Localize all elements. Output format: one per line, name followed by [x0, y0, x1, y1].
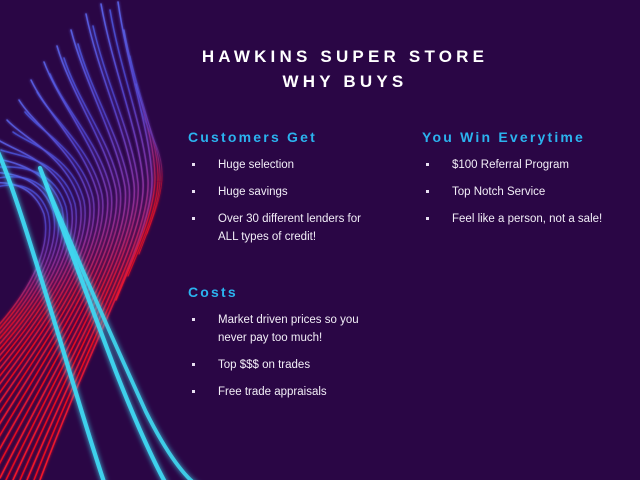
bullet-text: Top Notch Service	[452, 183, 627, 201]
bullet-dot-icon	[192, 217, 195, 220]
list-item: Huge selection	[188, 156, 388, 174]
list-item: Top Notch Service	[422, 183, 627, 201]
bullet-list: Huge selection Huge savings Over 30 diff…	[188, 156, 388, 246]
bullet-dot-icon	[426, 163, 429, 166]
list-item: Market driven prices so you never pay to…	[188, 311, 388, 347]
bullet-dot-icon	[192, 390, 195, 393]
section-heading: You Win Everytime	[422, 128, 627, 146]
bullet-text: Feel like a person, not a sale!	[452, 210, 627, 228]
bullet-text: Huge savings	[218, 183, 388, 201]
bullet-text-continued: never pay too much!	[218, 332, 322, 344]
bullet-text: $100 Referral Program	[452, 156, 627, 174]
list-item: Top $$$ on trades	[188, 356, 388, 374]
bullet-text-continued: ALL types of credit!	[218, 231, 316, 243]
bullet-list: Market driven prices so you never pay to…	[188, 311, 388, 401]
bullet-text: Huge selection	[218, 156, 388, 174]
list-item: Free trade appraisals	[188, 383, 388, 401]
bullet-dot-icon	[192, 190, 195, 193]
bullet-text: Top $$$ on trades	[218, 356, 388, 374]
bullet-dot-icon	[426, 190, 429, 193]
bullet-dot-icon	[426, 217, 429, 220]
bullet-text: Over 30 different lenders for	[218, 210, 388, 228]
bullet-text: Market driven prices so you	[218, 311, 388, 329]
slide-title: HAWKINS SUPER STORE WHY BUYS	[150, 44, 540, 94]
slide-canvas: HAWKINS SUPER STORE WHY BUYS Customers G…	[0, 0, 640, 480]
title-line-2: WHY BUYS	[150, 69, 540, 94]
bullet-dot-icon	[192, 318, 195, 321]
bullet-text: Free trade appraisals	[218, 383, 388, 401]
section-heading: Costs	[188, 283, 388, 301]
bullet-dot-icon	[192, 363, 195, 366]
section-customers-get: Customers Get Huge selection Huge saving…	[188, 128, 388, 246]
list-item: Feel like a person, not a sale!	[422, 210, 627, 228]
section-heading: Customers Get	[188, 128, 388, 146]
section-costs: Costs Market driven prices so you never …	[188, 283, 388, 401]
list-item: $100 Referral Program	[422, 156, 627, 174]
list-item: Huge savings	[188, 183, 388, 201]
section-you-win-everytime: You Win Everytime $100 Referral Program …	[422, 128, 627, 228]
title-line-1: HAWKINS SUPER STORE	[150, 44, 540, 69]
bullet-dot-icon	[192, 163, 195, 166]
list-item: Over 30 different lenders for ALL types …	[188, 210, 388, 246]
bullet-list: $100 Referral Program Top Notch Service …	[422, 156, 627, 228]
